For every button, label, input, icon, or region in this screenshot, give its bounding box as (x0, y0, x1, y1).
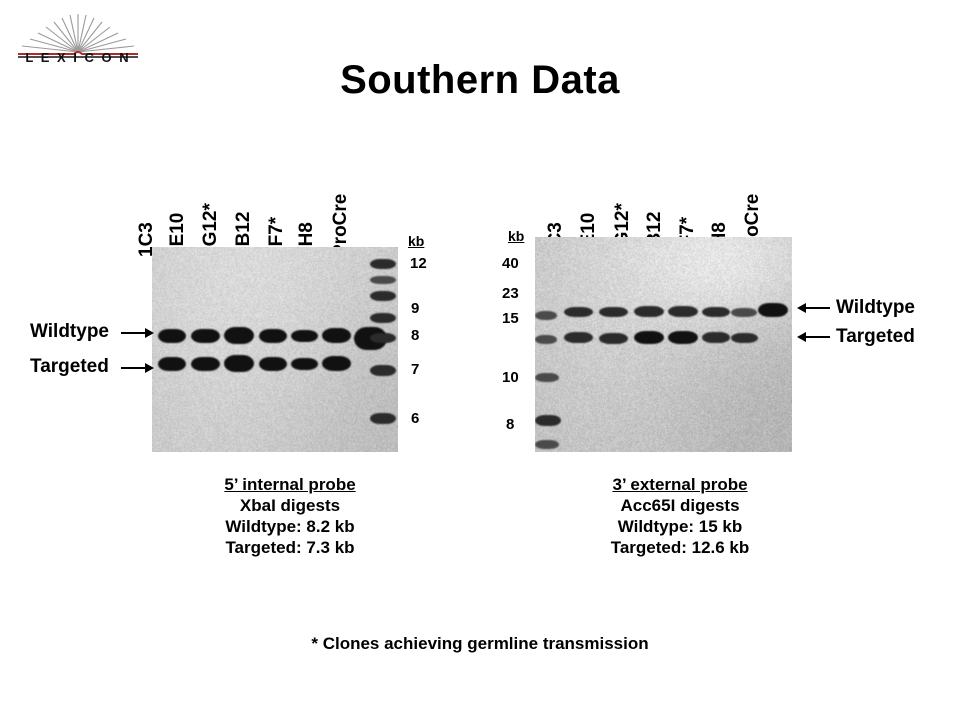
annotation-wildtype-left: Wildtype (30, 321, 109, 343)
kb-tick-right-4: 8 (506, 416, 514, 433)
caption-left-digest: XbaI digests (175, 495, 405, 516)
kb-tick-left-3: 7 (411, 361, 419, 378)
page-title: Southern Data (0, 58, 960, 103)
caption-right: 3’ external probe Acc65I digests Wildtyp… (565, 474, 795, 558)
caption-left-probe: 5’ internal probe (175, 474, 405, 495)
kb-tick-left-2: 8 (411, 327, 419, 344)
caption-left-wildtype: Wildtype: 8.2 kb (175, 516, 405, 537)
caption-right-probe: 3’ external probe (565, 474, 795, 495)
southern-blot-image-left (152, 247, 398, 452)
southern-blot-image-right (535, 237, 792, 452)
annotation-wildtype-right: Wildtype (836, 297, 915, 319)
kb-tick-left-0: 12 (410, 255, 427, 272)
blot-film-grain (535, 237, 792, 452)
arrow-targeted-left (121, 362, 154, 374)
kb-tick-left-1: 9 (411, 300, 419, 317)
kb-tick-right-0: 40 (502, 255, 519, 272)
caption-right-wildtype: Wildtype: 15 kb (565, 516, 795, 537)
annotation-targeted-left: Targeted (30, 356, 109, 378)
footnote: * Clones achieving germline transmission (0, 634, 960, 654)
kb-tick-right-3: 10 (502, 369, 519, 386)
caption-right-digest: Acc65I digests (565, 495, 795, 516)
arrow-wildtype-left (121, 327, 154, 339)
caption-left: 5’ internal probe XbaI digests Wildtype:… (175, 474, 405, 558)
caption-right-targeted: Targeted: 12.6 kb (565, 537, 795, 558)
kb-tick-left-4: 6 (411, 410, 419, 427)
kb-tick-right-2: 15 (502, 310, 519, 327)
kb-header-right: kb (508, 228, 524, 244)
caption-left-targeted: Targeted: 7.3 kb (175, 537, 405, 558)
annotation-targeted-right: Targeted (836, 326, 915, 348)
kb-tick-right-1: 23 (502, 285, 519, 302)
kb-header-left: kb (408, 233, 424, 249)
arrow-targeted-right (797, 331, 830, 343)
blot-film-grain (152, 247, 398, 452)
arrow-wildtype-right (797, 302, 830, 314)
